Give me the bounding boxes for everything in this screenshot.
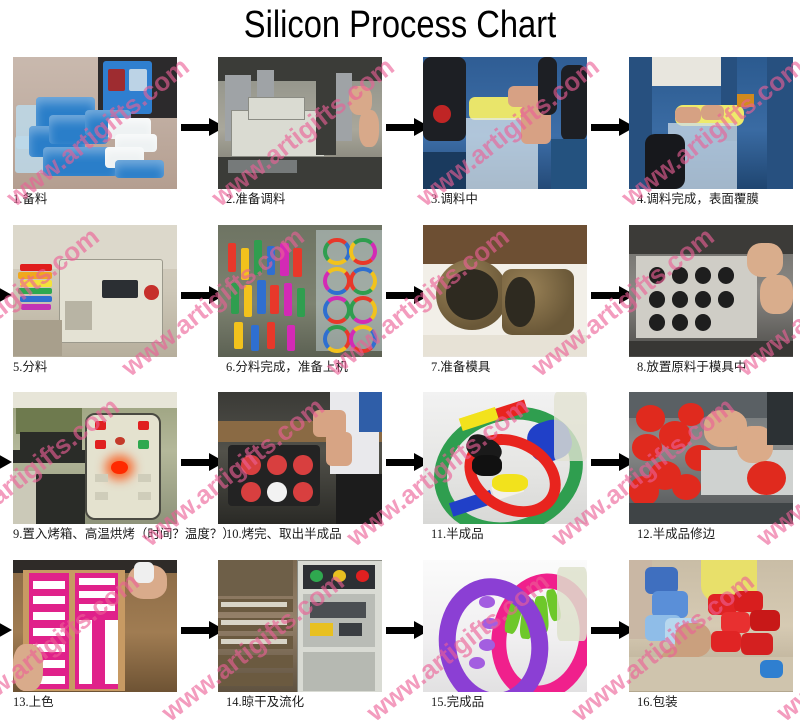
step-photo-7 [423,225,587,357]
step-caption-15: 15.完成品 [431,695,609,710]
step-caption-2: 2.准备调料 [226,192,404,207]
step-photo-12 [629,392,793,524]
process-step-15[interactable]: 15.完成品 [423,555,588,722]
process-flow-arrow [0,453,14,471]
process-step-9[interactable]: 9.置入烤箱、高温烘烤（时间？温度？） [13,387,178,555]
step-photo-2 [218,57,382,189]
process-step-10[interactable]: 10.烤完、取出半成品 [218,387,383,555]
step-caption-13: 13.上色 [13,695,191,710]
step-photo-5 [13,225,177,357]
step-caption-9: 9.置入烤箱、高温烘烤（时间？温度？） [13,527,191,542]
process-step-11[interactable]: 11.半成品 [423,387,588,555]
step-photo-6 [218,225,382,357]
step-caption-1: 1.备料 [13,192,191,207]
step-photo-3 [423,57,587,189]
step-caption-8: 8.放置原料于模具中 [637,360,800,375]
step-caption-14: 14.晾干及流化 [226,695,404,710]
step-photo-14 [218,560,382,692]
process-step-4[interactable]: 4.调料完成，表面覆膜 [629,52,794,220]
step-caption-5: 5.分料 [13,360,191,375]
step-photo-1 [13,57,177,189]
step-caption-3: 3.调料中 [431,192,609,207]
process-step-7[interactable]: 7.准备模具 [423,220,588,388]
process-step-14[interactable]: 14.晾干及流化 [218,555,383,722]
step-caption-12: 12.半成品修边 [637,527,800,542]
step-caption-6: 6.分料完成，准备上机 [226,360,404,375]
process-row-2: 5.分料 [0,220,800,388]
step-photo-11 [423,392,587,524]
process-step-1[interactable]: 1.备料 [13,52,178,220]
process-step-3[interactable]: 3.调料中 [423,52,588,220]
step-caption-4: 4.调料完成，表面覆膜 [637,192,800,207]
step-photo-10 [218,392,382,524]
process-step-16[interactable]: 16.包装 [629,555,794,722]
process-step-8[interactable]: 8.放置原料于模具中 [629,220,794,388]
process-step-5[interactable]: 5.分料 [13,220,178,388]
page-title: Silicon Process Chart [56,2,744,48]
process-step-13[interactable]: 13.上色 [13,555,178,722]
process-step-2[interactable]: 2.准备调料 [218,52,383,220]
process-step-12[interactable]: 12.半成品修边 [629,387,794,555]
step-photo-13 [13,560,177,692]
step-caption-7: 7.准备模具 [431,360,609,375]
step-caption-11: 11.半成品 [431,527,609,542]
process-row-1: 1.备料 [0,52,800,220]
step-photo-9 [13,392,177,524]
process-step-6[interactable]: 6.分料完成，准备上机 [218,220,383,388]
step-photo-8 [629,225,793,357]
step-photo-15 [423,560,587,692]
step-photo-16 [629,560,793,692]
step-photo-4 [629,57,793,189]
process-flow-arrow [0,286,14,304]
process-row-3: 9.置入烤箱、高温烘烤（时间？温度？） [0,387,800,555]
process-row-4: 13.上色 [0,555,800,722]
process-grid: 1.备料 [0,52,800,722]
step-caption-16: 16.包装 [637,695,800,710]
process-flow-arrow [0,621,14,639]
step-caption-10: 10.烤完、取出半成品 [226,527,404,542]
process-chart-page: Silicon Process Chart [0,0,800,722]
